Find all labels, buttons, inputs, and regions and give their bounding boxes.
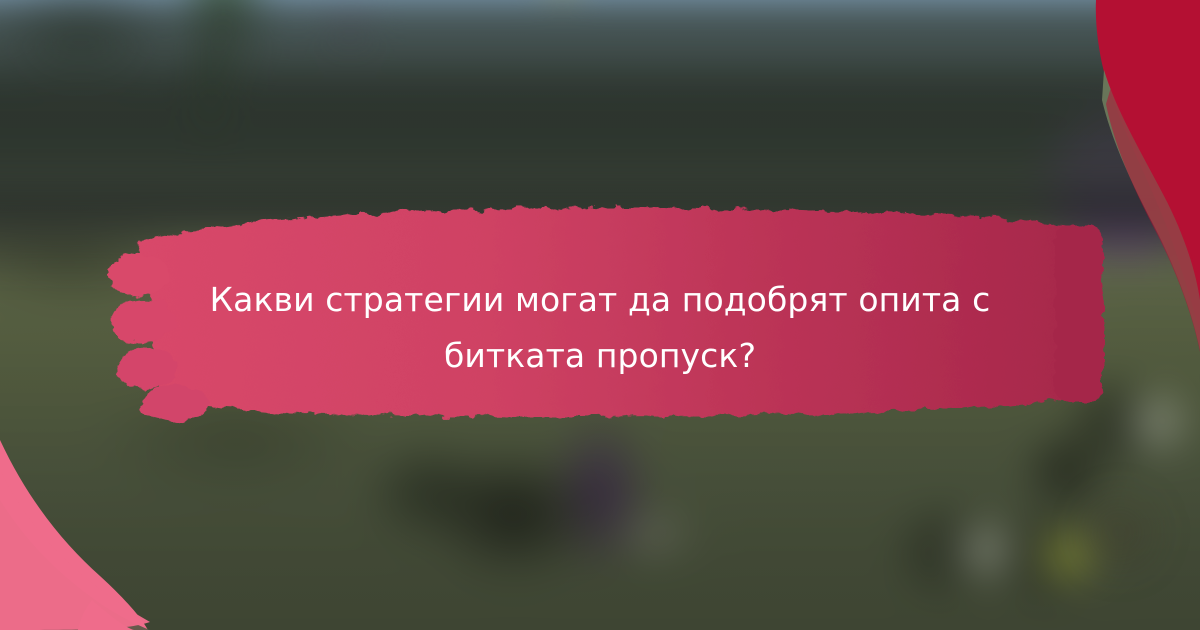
hero-card: Какви стратегии могат да подобрят опита … — [0, 0, 1200, 630]
page-title: Какви стратегии могат да подобрят опита … — [160, 272, 1040, 384]
headline-line-1: Какви стратегии могат да подобрят опита … — [210, 280, 991, 319]
headline-line-2: битката пропуск? — [444, 336, 756, 375]
